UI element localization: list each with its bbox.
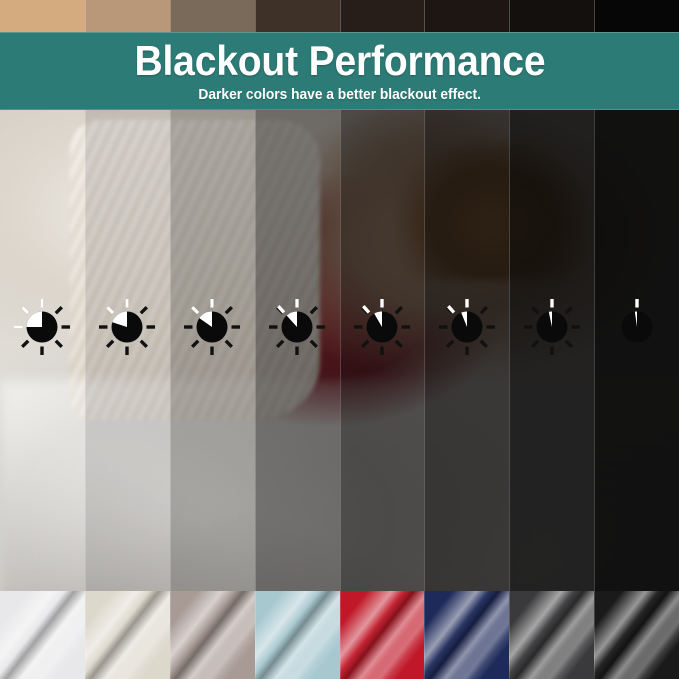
brightness-cell-5	[340, 295, 425, 359]
fabric-sheen-secondary	[424, 591, 509, 679]
fabric-sheen-secondary	[0, 591, 85, 679]
brightness-cell-4	[255, 295, 340, 359]
top-swatch-4	[255, 0, 340, 32]
brightness-icon-row	[0, 295, 679, 359]
top-swatch-8	[594, 0, 679, 32]
fabric-swatch-black[interactable]	[594, 591, 679, 679]
top-swatch-5	[340, 0, 425, 32]
fabric-swatch-white[interactable]	[0, 591, 85, 679]
light-wedge-1	[27, 312, 43, 328]
banner: Blackout Performance Darker colors have …	[0, 32, 679, 110]
brightness-cell-7	[509, 295, 594, 359]
brightness-cell-6	[424, 295, 509, 359]
fabric-swatch-red[interactable]	[340, 591, 425, 679]
blackout-performance-infographic: Blackout Performance Darker colors have …	[0, 0, 679, 679]
banner-subtitle: Darker colors have a better blackout eff…	[198, 87, 481, 103]
sun-icon-6	[436, 296, 498, 358]
fabric-swatch-navy[interactable]	[424, 591, 509, 679]
fabric-swatch-cream[interactable]	[85, 591, 170, 679]
fabric-sheen-secondary	[509, 591, 594, 679]
sun-icon-5	[351, 296, 413, 358]
fabric-sheen-secondary	[170, 591, 255, 679]
top-swatch-2	[85, 0, 170, 32]
top-swatch-3	[170, 0, 255, 32]
sun-icon-1	[11, 296, 73, 358]
page-title: Blackout Performance	[134, 40, 545, 82]
sun-icon-3	[181, 296, 243, 358]
fabric-swatch-row	[0, 591, 679, 679]
fabric-sheen-secondary	[255, 591, 340, 679]
brightness-cell-1	[0, 295, 85, 359]
top-swatch-1	[0, 0, 85, 32]
top-swatch-6	[424, 0, 509, 32]
sun-icon-2	[96, 296, 158, 358]
fabric-sheen-secondary	[594, 591, 679, 679]
fabric-swatch-taupe[interactable]	[170, 591, 255, 679]
fabric-sheen-secondary	[340, 591, 425, 679]
sun-icon-7	[521, 296, 583, 358]
top-swatch-7	[509, 0, 594, 32]
sun-icon-8	[606, 296, 668, 358]
fabric-swatch-light-blue[interactable]	[255, 591, 340, 679]
brightness-cell-8	[594, 295, 679, 359]
fabric-sheen-secondary	[85, 591, 170, 679]
brightness-cell-3	[170, 295, 255, 359]
brightness-cell-2	[85, 295, 170, 359]
top-color-strip	[0, 0, 679, 32]
sun-icon-4	[266, 296, 328, 358]
fabric-swatch-charcoal[interactable]	[509, 591, 594, 679]
